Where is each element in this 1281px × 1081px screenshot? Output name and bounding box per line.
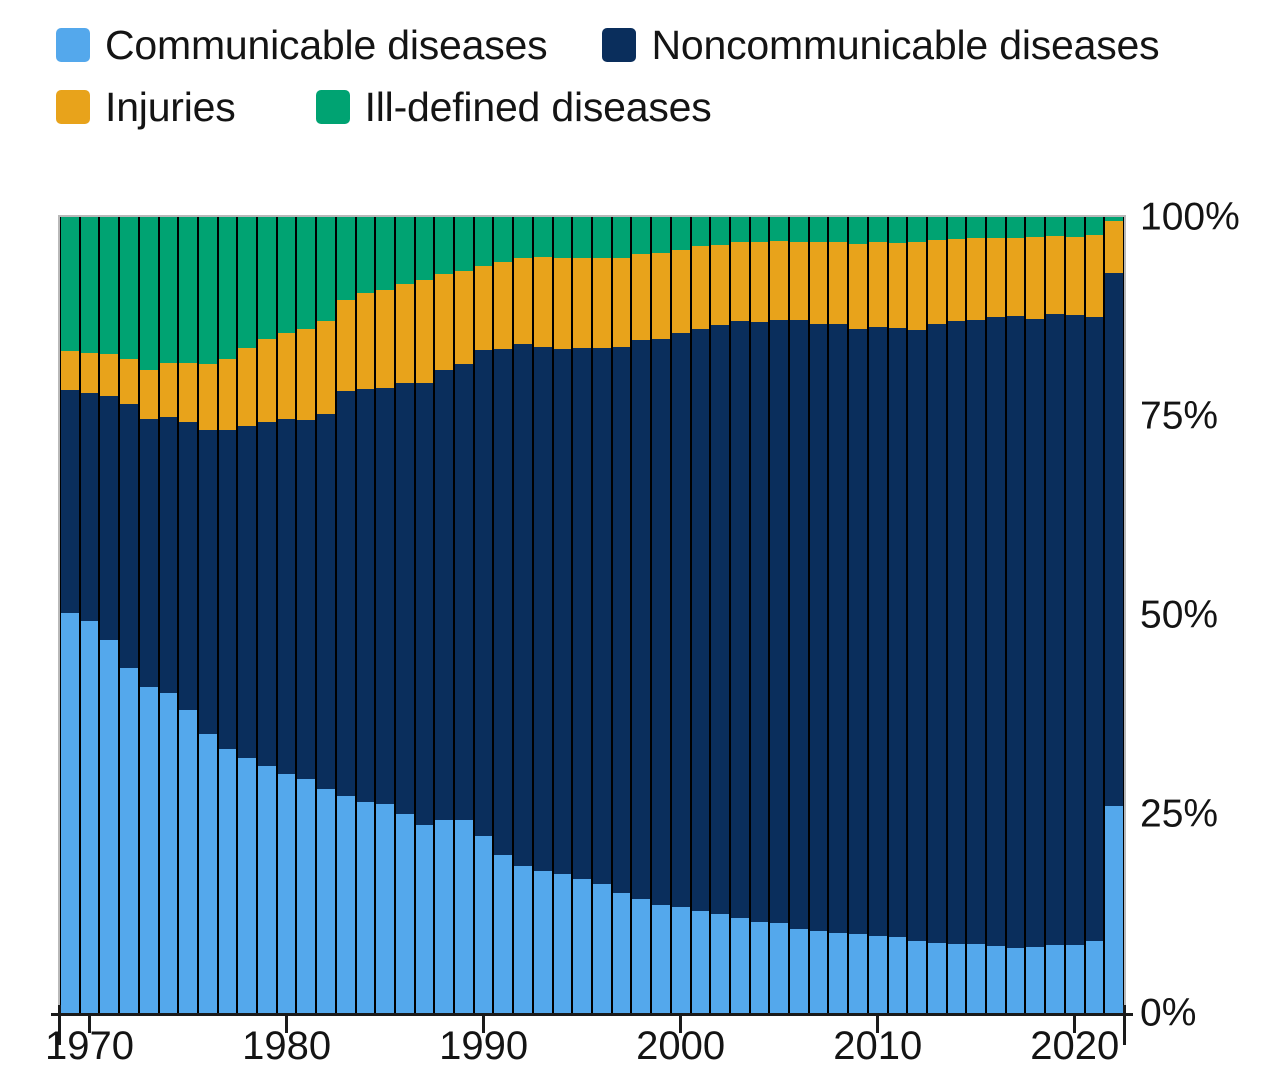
bar-segment-ill-defined-diseases (475, 217, 493, 266)
bar-1977[interactable] (218, 217, 238, 1013)
bar-segment-noncommunicable-diseases (199, 430, 217, 735)
bar-segment-ill-defined-diseases (554, 217, 572, 258)
bar-segment-communicable-diseases (1007, 948, 1025, 1013)
x-axis-line (51, 1013, 1133, 1016)
bar-1971[interactable] (99, 217, 119, 1013)
bar-segment-ill-defined-diseases (199, 217, 217, 364)
bar-segment-injuries (593, 258, 611, 349)
bar-segment-noncommunicable-diseases (652, 339, 670, 905)
bar-segment-noncommunicable-diseases (219, 430, 237, 749)
bar-segment-noncommunicable-diseases (751, 322, 769, 922)
bar-2007[interactable] (809, 217, 829, 1013)
bar-2001[interactable] (691, 217, 711, 1013)
bar-segment-injuries (632, 254, 650, 341)
bar-1973[interactable] (139, 217, 159, 1013)
bar-segment-communicable-diseases (613, 893, 631, 1013)
bar-segment-noncommunicable-diseases (829, 324, 847, 933)
bar-segment-ill-defined-diseases (357, 217, 375, 293)
bar-segment-noncommunicable-diseases (258, 422, 276, 767)
bar-segment-ill-defined-diseases (376, 217, 394, 290)
bar-segment-ill-defined-diseases (1007, 217, 1025, 238)
bar-segment-noncommunicable-diseases (908, 330, 926, 941)
bar-segment-ill-defined-diseases (179, 217, 197, 363)
bar-1988[interactable] (434, 217, 454, 1013)
bar-segment-injuries (908, 242, 926, 330)
bar-1999[interactable] (651, 217, 671, 1013)
bar-segment-noncommunicable-diseases (494, 349, 512, 855)
bar-segment-communicable-diseases (948, 944, 966, 1013)
bar-1991[interactable] (493, 217, 513, 1013)
bar-segment-injuries (179, 363, 197, 423)
bar-segment-ill-defined-diseases (416, 217, 434, 280)
bar-segment-injuries (297, 329, 315, 420)
bar-segment-noncommunicable-diseases (573, 348, 591, 880)
bar-segment-injuries (396, 284, 414, 383)
bar-segment-injuries (928, 240, 946, 324)
bar-segment-noncommunicable-diseases (1105, 273, 1123, 806)
bar-segment-ill-defined-diseases (81, 217, 99, 353)
bar-2010[interactable] (868, 217, 888, 1013)
bar-segment-noncommunicable-diseases (475, 350, 493, 836)
bar-segment-noncommunicable-diseases (1086, 317, 1104, 941)
bar-1992[interactable] (513, 217, 533, 1013)
bar-segment-communicable-diseases (1105, 806, 1123, 1013)
bar-segment-communicable-diseases (376, 804, 394, 1013)
bar-2011[interactable] (888, 217, 908, 1013)
bar-segment-noncommunicable-diseases (140, 419, 158, 686)
bar-segment-injuries (1007, 238, 1025, 317)
x-tick-label-2010: 2010 (833, 1026, 922, 1066)
bar-segment-ill-defined-diseases (770, 217, 788, 241)
bar-segment-communicable-diseases (711, 914, 729, 1013)
bar-1980[interactable] (277, 217, 297, 1013)
bar-segment-communicable-diseases (455, 820, 473, 1013)
bar-segment-injuries (416, 280, 434, 383)
bar-segment-injuries (1066, 237, 1084, 315)
bar-segment-communicable-diseases (494, 855, 512, 1013)
bar-segment-injuries (869, 242, 887, 326)
bar-2015[interactable] (966, 217, 986, 1013)
bar-1982[interactable] (316, 217, 336, 1013)
bar-segment-communicable-diseases (120, 668, 138, 1013)
bar-segment-communicable-diseases (1026, 947, 1044, 1013)
bar-segment-noncommunicable-diseases (672, 333, 690, 907)
bar-segment-injuries (790, 242, 808, 320)
bar-segment-injuries (770, 241, 788, 320)
bar-segment-communicable-diseases (829, 933, 847, 1013)
bar-segment-noncommunicable-diseases (81, 393, 99, 621)
bar-segment-injuries (967, 238, 985, 319)
bar-segment-ill-defined-diseases (692, 217, 710, 246)
bar-2004[interactable] (750, 217, 770, 1013)
bar-segment-noncommunicable-diseases (554, 349, 572, 874)
bar-1979[interactable] (257, 217, 277, 1013)
bar-segment-injuries (849, 244, 867, 329)
bar-segment-ill-defined-diseases (928, 217, 946, 240)
bar-segment-noncommunicable-diseases (1066, 315, 1084, 945)
bar-segment-ill-defined-diseases (435, 217, 453, 274)
bar-segment-ill-defined-diseases (297, 217, 315, 329)
bar-segment-communicable-diseases (416, 825, 434, 1013)
bar-segment-injuries (731, 242, 749, 322)
bar-1995[interactable] (572, 217, 592, 1013)
bar-segment-ill-defined-diseases (731, 217, 749, 242)
bar-segment-noncommunicable-diseases (100, 396, 118, 640)
bar-segment-communicable-diseases (632, 899, 650, 1013)
bar-segment-injuries (475, 266, 493, 350)
bar-segment-injuries (1105, 221, 1123, 273)
bar-1984[interactable] (356, 217, 376, 1013)
bar-segment-ill-defined-diseases (1086, 217, 1104, 235)
bar-segment-communicable-diseases (61, 613, 79, 1013)
bar-segment-communicable-diseases (534, 871, 552, 1013)
bar-segment-communicable-diseases (297, 779, 315, 1013)
bar-segment-ill-defined-diseases (573, 217, 591, 258)
bar-segment-communicable-diseases (238, 758, 256, 1013)
bar-segment-ill-defined-diseases (396, 217, 414, 284)
bar-segment-injuries (829, 242, 847, 324)
bar-segment-noncommunicable-diseases (1026, 319, 1044, 947)
bar-segment-injuries (613, 258, 631, 347)
bar-segment-ill-defined-diseases (613, 217, 631, 258)
bar-segment-noncommunicable-diseases (317, 414, 335, 789)
bar-segment-injuries (514, 258, 532, 344)
bar-segment-injuries (100, 354, 118, 396)
bar-segment-ill-defined-diseases (672, 217, 690, 250)
bar-segment-communicable-diseases (967, 944, 985, 1013)
bar-segment-communicable-diseases (731, 918, 749, 1013)
bar-1970[interactable] (80, 217, 100, 1013)
bar-2012[interactable] (907, 217, 927, 1013)
bar-segment-injuries (160, 363, 178, 417)
bar-1974[interactable] (159, 217, 179, 1013)
bar-1985[interactable] (375, 217, 395, 1013)
bar-segment-noncommunicable-diseases (593, 348, 611, 884)
bar-segment-communicable-diseases (396, 814, 414, 1013)
bar-2005[interactable] (769, 217, 789, 1013)
bar-segment-injuries (534, 257, 552, 347)
y-axis-right-cap (1123, 1005, 1126, 1045)
bar-segment-ill-defined-diseases (790, 217, 808, 242)
bar-segment-communicable-diseases (357, 802, 375, 1013)
bar-segment-ill-defined-diseases (258, 217, 276, 339)
bar-segment-communicable-diseases (928, 943, 946, 1013)
bar-segment-ill-defined-diseases (120, 217, 138, 359)
bar-segment-ill-defined-diseases (810, 217, 828, 242)
bar-segment-noncommunicable-diseases (534, 347, 552, 872)
bar-segment-noncommunicable-diseases (790, 320, 808, 929)
bar-2020[interactable] (1065, 217, 1085, 1013)
bar-segment-ill-defined-diseases (829, 217, 847, 242)
bar-segment-noncommunicable-diseases (238, 426, 256, 758)
bar-segment-communicable-diseases (652, 905, 670, 1013)
y-tick-label-100: 100% (1140, 198, 1240, 237)
bar-segment-communicable-diseases (1046, 945, 1064, 1013)
bar-segment-ill-defined-diseases (711, 217, 729, 245)
bar-1978[interactable] (237, 217, 257, 1013)
bar-segment-ill-defined-diseases (278, 217, 296, 333)
bar-segment-noncommunicable-diseases (810, 324, 828, 931)
bar-segment-ill-defined-diseases (849, 217, 867, 244)
bar-segment-noncommunicable-diseases (179, 422, 197, 710)
bar-segment-injuries (889, 243, 907, 328)
bar-segment-injuries (652, 253, 670, 339)
bar-segment-communicable-diseases (672, 907, 690, 1013)
bar-1987[interactable] (415, 217, 435, 1013)
bar-segment-injuries (219, 359, 237, 429)
x-tick-label-1990: 1990 (439, 1026, 528, 1066)
bar-2002[interactable] (710, 217, 730, 1013)
bar-segment-injuries (1046, 236, 1064, 314)
bar-segment-communicable-diseases (278, 774, 296, 1013)
bar-2017[interactable] (1006, 217, 1026, 1013)
bar-1975[interactable] (178, 217, 198, 1013)
bar-segment-noncommunicable-diseases (357, 389, 375, 802)
bar-segment-injuries (61, 351, 79, 390)
bar-segment-injuries (810, 242, 828, 324)
bar-segment-injuries (692, 246, 710, 329)
bar-segment-noncommunicable-diseases (1046, 314, 1064, 944)
bar-1969[interactable] (60, 217, 80, 1013)
bar-2021[interactable] (1085, 217, 1105, 1013)
bar-segment-noncommunicable-diseases (613, 347, 631, 893)
bar-segment-noncommunicable-diseases (711, 325, 729, 914)
bar-segment-noncommunicable-diseases (770, 320, 788, 923)
bar-segment-communicable-diseases (573, 879, 591, 1013)
bar-segment-ill-defined-diseases (534, 217, 552, 257)
bar-segment-noncommunicable-diseases (514, 344, 532, 866)
bar-segment-communicable-diseases (849, 934, 867, 1013)
bar-segment-ill-defined-diseases (61, 217, 79, 351)
bar-segment-noncommunicable-diseases (849, 329, 867, 934)
bar-segment-noncommunicable-diseases (928, 324, 946, 943)
bar-segment-communicable-diseases (514, 866, 532, 1013)
bar-2009[interactable] (848, 217, 868, 1013)
bar-segment-ill-defined-diseases (514, 217, 532, 258)
bar-segment-injuries (258, 339, 276, 422)
bar-segment-communicable-diseases (593, 884, 611, 1013)
bar-segment-noncommunicable-diseases (455, 364, 473, 820)
bar-segment-communicable-diseases (554, 874, 572, 1013)
bar-segment-injuries (317, 321, 335, 413)
bar-1996[interactable] (592, 217, 612, 1013)
bar-segment-communicable-diseases (317, 789, 335, 1013)
bar-1983[interactable] (336, 217, 356, 1013)
bar-segment-noncommunicable-diseases (278, 419, 296, 774)
bar-segment-injuries (711, 245, 729, 325)
bar-segment-injuries (357, 293, 375, 389)
bar-segment-communicable-diseases (337, 796, 355, 1013)
bar-segment-ill-defined-diseases (751, 217, 769, 242)
bar-segment-ill-defined-diseases (1046, 217, 1064, 236)
bar-segment-communicable-diseases (160, 693, 178, 1013)
bar-2006[interactable] (789, 217, 809, 1013)
bar-segment-ill-defined-diseases (140, 217, 158, 370)
bar-segment-ill-defined-diseases (1026, 217, 1044, 237)
bar-segment-communicable-diseases (770, 923, 788, 1013)
bar-segment-noncommunicable-diseases (337, 391, 355, 795)
bar-segment-noncommunicable-diseases (967, 320, 985, 944)
bar-1976[interactable] (198, 217, 218, 1013)
bar-segment-communicable-diseases (810, 931, 828, 1013)
bar-segment-noncommunicable-diseases (869, 327, 887, 936)
x-tick-label-2020: 2020 (1030, 1026, 1119, 1066)
bar-segment-noncommunicable-diseases (160, 417, 178, 693)
bar-segment-communicable-diseases (889, 937, 907, 1013)
y-tick-label-0: 0% (1140, 994, 1196, 1033)
bar-segment-ill-defined-diseases (317, 217, 335, 321)
bar-2014[interactable] (947, 217, 967, 1013)
bar-segment-noncommunicable-diseases (435, 370, 453, 820)
bar-segment-ill-defined-diseases (908, 217, 926, 242)
bar-segment-noncommunicable-diseases (120, 404, 138, 668)
x-tick-label-2000: 2000 (636, 1026, 725, 1066)
bar-segment-ill-defined-diseases (1066, 217, 1084, 237)
bar-segment-noncommunicable-diseases (416, 383, 434, 826)
bar-segment-communicable-diseases (1066, 945, 1084, 1013)
stacked-bar-chart: 197019801990200020102020 100%75%50%25%0% (0, 0, 1281, 1081)
bar-segment-communicable-diseases (987, 946, 1005, 1013)
bar-segment-noncommunicable-diseases (948, 321, 966, 943)
bar-segment-injuries (238, 348, 256, 426)
bar-segment-communicable-diseases (751, 922, 769, 1013)
bar-segment-injuries (1086, 235, 1104, 317)
bar-segment-injuries (455, 271, 473, 364)
bar-segment-ill-defined-diseases (337, 217, 355, 300)
bar-segment-noncommunicable-diseases (632, 340, 650, 899)
bar-segment-ill-defined-diseases (160, 217, 178, 363)
bar-1990[interactable] (474, 217, 494, 1013)
bar-1998[interactable] (631, 217, 651, 1013)
bar-segment-injuries (120, 359, 138, 404)
y-tick-label-25: 25% (1140, 795, 1218, 834)
bar-segment-ill-defined-diseases (967, 217, 985, 238)
bar-segment-noncommunicable-diseases (376, 388, 394, 804)
bar-segment-ill-defined-diseases (494, 217, 512, 262)
bar-segment-communicable-diseases (908, 941, 926, 1013)
bar-segment-ill-defined-diseases (100, 217, 118, 354)
bar-segment-noncommunicable-diseases (61, 390, 79, 614)
bar-segment-noncommunicable-diseases (987, 317, 1005, 946)
bar-segment-noncommunicable-diseases (889, 328, 907, 936)
bar-segment-injuries (948, 239, 966, 321)
bar-segment-communicable-diseases (475, 836, 493, 1013)
bar-segment-injuries (435, 274, 453, 370)
bar-segment-noncommunicable-diseases (692, 329, 710, 911)
bar-segment-noncommunicable-diseases (297, 420, 315, 779)
bar-segment-communicable-diseases (100, 640, 118, 1013)
bar-1989[interactable] (454, 217, 474, 1013)
y-tick-label-75: 75% (1140, 397, 1218, 436)
bar-segment-communicable-diseases (179, 710, 197, 1012)
bar-segment-communicable-diseases (140, 687, 158, 1013)
bar-segment-noncommunicable-diseases (731, 321, 749, 918)
bar-2013[interactable] (927, 217, 947, 1013)
bar-segment-injuries (751, 242, 769, 322)
bar-segment-ill-defined-diseases (948, 217, 966, 239)
bar-1986[interactable] (395, 217, 415, 1013)
bar-1997[interactable] (612, 217, 632, 1013)
x-tick-label-1980: 1980 (242, 1026, 331, 1066)
y-tick-label-50: 50% (1140, 596, 1218, 635)
bar-segment-communicable-diseases (219, 749, 237, 1013)
bar-segment-ill-defined-diseases (632, 217, 650, 254)
bar-segment-ill-defined-diseases (238, 217, 256, 348)
bar-segment-communicable-diseases (199, 734, 217, 1013)
bar-segment-injuries (573, 258, 591, 348)
bar-segment-injuries (337, 300, 355, 392)
bar-segment-communicable-diseases (435, 820, 453, 1013)
bar-segment-ill-defined-diseases (652, 217, 670, 253)
bar-segment-communicable-diseases (790, 929, 808, 1013)
bar-segment-communicable-diseases (81, 621, 99, 1013)
bar-segment-ill-defined-diseases (987, 217, 1005, 238)
bar-segment-ill-defined-diseases (455, 217, 473, 271)
bar-segment-injuries (376, 290, 394, 388)
bar-segment-communicable-diseases (1086, 941, 1104, 1013)
bar-1981[interactable] (296, 217, 316, 1013)
bar-segment-injuries (672, 250, 690, 334)
x-tick-label-1970: 1970 (45, 1026, 134, 1066)
bar-segment-injuries (199, 364, 217, 429)
bar-segment-communicable-diseases (869, 936, 887, 1013)
bar-2000[interactable] (671, 217, 691, 1013)
bar-2018[interactable] (1025, 217, 1045, 1013)
bar-1972[interactable] (119, 217, 139, 1013)
bar-segment-injuries (1026, 237, 1044, 319)
bar-2016[interactable] (986, 217, 1006, 1013)
bar-segment-ill-defined-diseases (593, 217, 611, 258)
bar-segment-injuries (987, 238, 1005, 318)
bar-segment-injuries (278, 333, 296, 419)
plot-bars (60, 217, 1124, 1013)
bar-2008[interactable] (828, 217, 848, 1013)
bar-segment-injuries (554, 258, 572, 350)
bar-2003[interactable] (730, 217, 750, 1013)
bar-segment-injuries (81, 353, 99, 393)
bar-segment-ill-defined-diseases (889, 217, 907, 243)
bar-segment-injuries (140, 370, 158, 419)
bar-segment-ill-defined-diseases (869, 217, 887, 242)
bar-segment-injuries (494, 262, 512, 350)
bar-segment-noncommunicable-diseases (1007, 316, 1025, 947)
bar-1994[interactable] (553, 217, 573, 1013)
bar-segment-ill-defined-diseases (219, 217, 237, 359)
bar-2019[interactable] (1045, 217, 1065, 1013)
bar-segment-communicable-diseases (692, 911, 710, 1013)
bar-segment-communicable-diseases (258, 766, 276, 1013)
bar-segment-noncommunicable-diseases (396, 383, 414, 814)
bar-1993[interactable] (533, 217, 553, 1013)
bar-2022[interactable] (1104, 217, 1124, 1013)
